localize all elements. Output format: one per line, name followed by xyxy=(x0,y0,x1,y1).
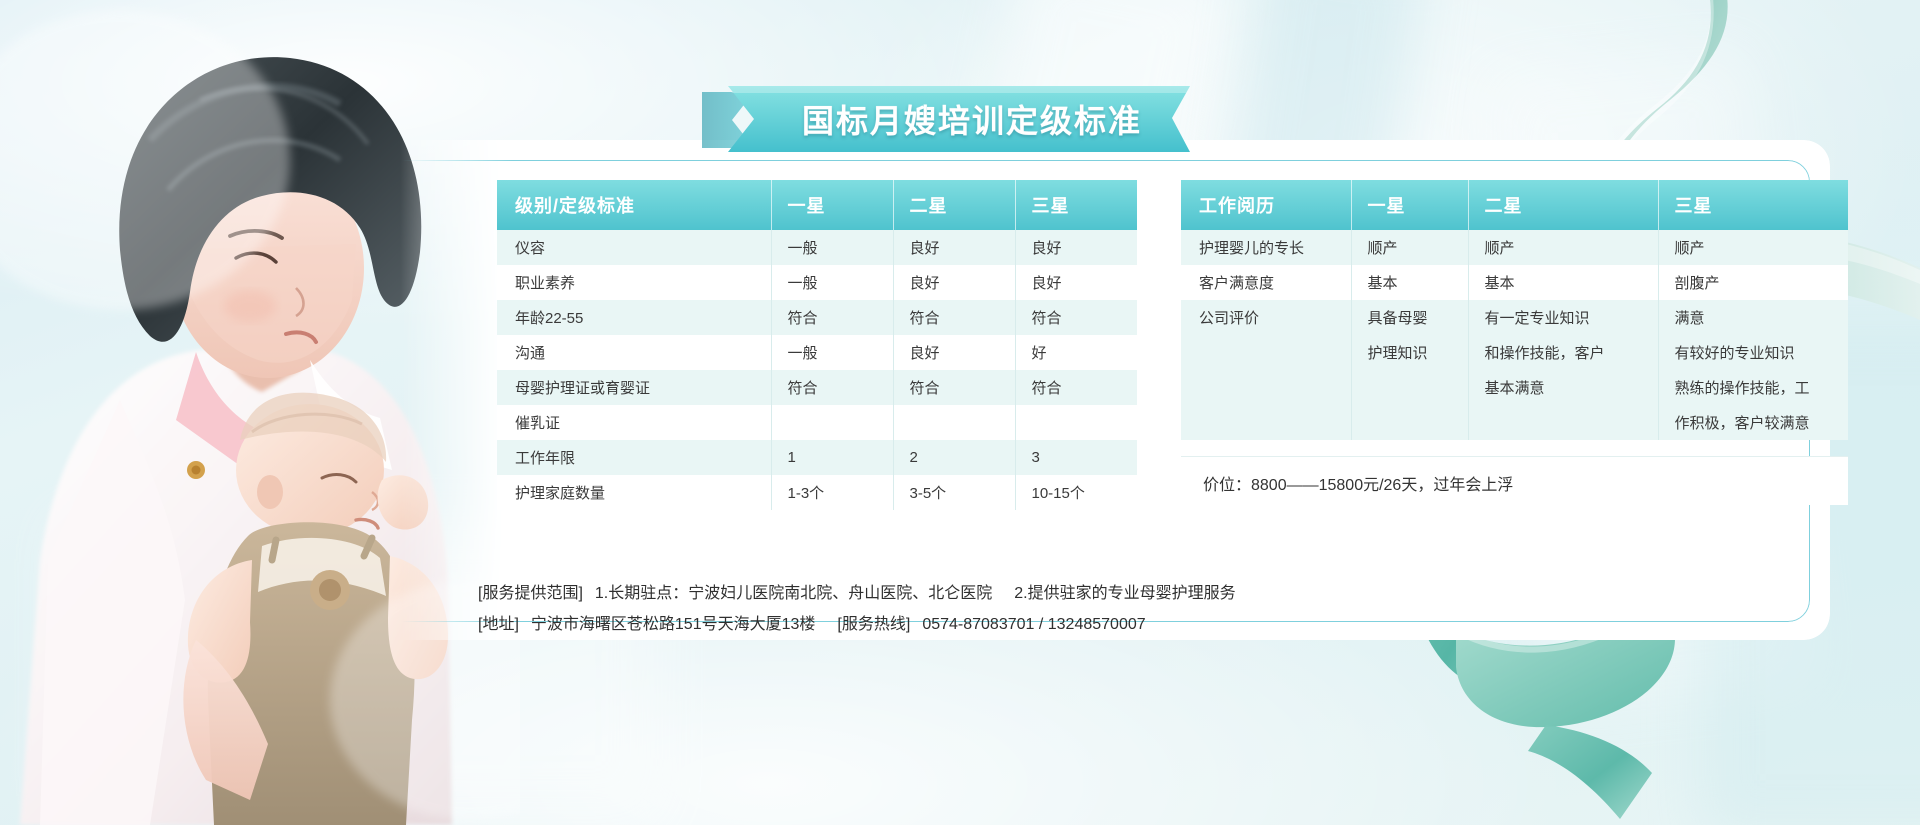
cell-three-star: 作积极，客户较满意 xyxy=(1658,405,1848,440)
table-row: 仪容 一般 良好 良好 xyxy=(497,230,1137,265)
row-label xyxy=(1181,405,1351,440)
row-label: 公司评价 xyxy=(1181,300,1351,335)
cell-two-star: 2 xyxy=(893,440,1015,475)
cell-two-star: 3-5个 xyxy=(893,475,1015,510)
row-label: 催乳证 xyxy=(497,405,771,440)
banner-title: 国标月嫂培训定级标准 xyxy=(702,86,1190,152)
service-scope-text: 1.长期驻点：宁波妇儿医院南北院、舟山医院、北仑医院 xyxy=(595,585,992,602)
column-header-three-star: 三星 xyxy=(1658,180,1848,230)
cell-two-star: 基本 xyxy=(1468,265,1658,300)
cell-one-star: 一般 xyxy=(771,335,893,370)
table-row: 作积极，客户较满意 xyxy=(1181,405,1848,440)
table-row: 职业素养 一般 良好 良好 xyxy=(497,265,1137,300)
column-header-experience: 工作阅历 xyxy=(1181,180,1351,230)
row-label xyxy=(1181,335,1351,370)
address-hotline-line: [地址]宁波市海曙区苍松路151号天海大厦13楼[服务热线]0574-87083… xyxy=(478,609,1678,640)
row-label: 沟通 xyxy=(497,335,771,370)
cell-one-star: 符合 xyxy=(771,300,893,335)
cell-three-star: 顺产 xyxy=(1658,230,1848,265)
cell-three-star xyxy=(1015,405,1137,440)
cell-one-star: 基本 xyxy=(1351,265,1468,300)
price-note: 价位：8800——15800元/26天，过年会上浮 xyxy=(1181,456,1848,505)
service-scope-label: [服务提供范围] xyxy=(478,585,583,602)
cell-three-star: 好 xyxy=(1015,335,1137,370)
row-label xyxy=(1181,370,1351,405)
cell-one-star: 1 xyxy=(771,440,893,475)
table-row: 护理知识 和操作技能，客户 有较好的专业知识 xyxy=(1181,335,1848,370)
work-experience-table: 工作阅历 一星 二星 三星 护理婴儿的专长 顺产 顺产 顺产 客户满意度 xyxy=(1181,180,1848,440)
cell-one-star: 具备母婴 xyxy=(1351,300,1468,335)
column-header-three-star: 三星 xyxy=(1015,180,1137,230)
cell-three-star: 满意 xyxy=(1658,300,1848,335)
column-header-one-star: 一星 xyxy=(771,180,893,230)
grade-standard-table: 级别/定级标准 一星 二星 三星 仪容 一般 良好 良好 职业素养 一般 良好 xyxy=(497,180,1137,510)
row-label: 护理家庭数量 xyxy=(497,475,771,510)
table-row: 护理家庭数量 1-3个 3-5个 10-15个 xyxy=(497,475,1137,510)
column-header-two-star: 二星 xyxy=(893,180,1015,230)
cell-one-star xyxy=(1351,405,1468,440)
address-text: 宁波市海曙区苍松路151号天海大厦13楼 xyxy=(531,616,816,633)
footer-info: [服务提供范围]1.长期驻点：宁波妇儿医院南北院、舟山医院、北仑医院2.提供驻家… xyxy=(478,578,1678,640)
cell-two-star xyxy=(893,405,1015,440)
experience-table-wrapper: 工作阅历 一星 二星 三星 护理婴儿的专长 顺产 顺产 顺产 客户满意度 xyxy=(1181,180,1848,510)
cell-two-star: 和操作技能，客户 xyxy=(1468,335,1658,370)
cell-three-star: 良好 xyxy=(1015,230,1137,265)
row-label: 工作年限 xyxy=(497,440,771,475)
cell-three-star: 有较好的专业知识 xyxy=(1658,335,1848,370)
tables-container: 级别/定级标准 一星 二星 三星 仪容 一般 良好 良好 职业素养 一般 良好 xyxy=(497,180,1797,510)
cell-three-star: 符合 xyxy=(1015,370,1137,405)
address-label: [地址] xyxy=(478,616,519,633)
table-row: 客户满意度 基本 基本 剖腹产 xyxy=(1181,265,1848,300)
cell-one-star: 符合 xyxy=(771,370,893,405)
cell-one-star xyxy=(1351,370,1468,405)
cell-two-star: 良好 xyxy=(893,335,1015,370)
row-label: 母婴护理证或育婴证 xyxy=(497,370,771,405)
column-header-two-star: 二星 xyxy=(1468,180,1658,230)
row-label: 仪容 xyxy=(497,230,771,265)
column-header-one-star: 一星 xyxy=(1351,180,1468,230)
table-row: 母婴护理证或育婴证 符合 符合 符合 xyxy=(497,370,1137,405)
cell-three-star: 10-15个 xyxy=(1015,475,1137,510)
row-label: 职业素养 xyxy=(497,265,771,300)
table-row: 护理婴儿的专长 顺产 顺产 顺产 xyxy=(1181,230,1848,265)
table-row: 沟通 一般 良好 好 xyxy=(497,335,1137,370)
row-label: 客户满意度 xyxy=(1181,265,1351,300)
row-label: 年龄22-55 xyxy=(497,300,771,335)
cell-two-star: 符合 xyxy=(893,370,1015,405)
column-header-criteria: 级别/定级标准 xyxy=(497,180,771,230)
table-row: 催乳证 xyxy=(497,405,1137,440)
row-label: 护理婴儿的专长 xyxy=(1181,230,1351,265)
table-row: 年龄22-55 符合 符合 符合 xyxy=(497,300,1137,335)
table-header-row: 工作阅历 一星 二星 三星 xyxy=(1181,180,1848,230)
cell-three-star: 良好 xyxy=(1015,265,1137,300)
cell-one-star: 顺产 xyxy=(1351,230,1468,265)
cell-two-star: 良好 xyxy=(893,230,1015,265)
cell-three-star: 熟练的操作技能，工 xyxy=(1658,370,1848,405)
table-row: 公司评价 具备母婴 有一定专业知识 满意 xyxy=(1181,300,1848,335)
cell-one-star: 1-3个 xyxy=(771,475,893,510)
cell-two-star: 基本满意 xyxy=(1468,370,1658,405)
cell-one-star xyxy=(771,405,893,440)
cell-two-star: 顺产 xyxy=(1468,230,1658,265)
title-banner: 国标月嫂培训定级标准 xyxy=(702,86,1190,152)
service-scope-text-2: 2.提供驻家的专业母婴护理服务 xyxy=(1014,585,1235,602)
cell-three-star: 符合 xyxy=(1015,300,1137,335)
table-row: 工作年限 1 2 3 xyxy=(497,440,1137,475)
cell-one-star: 一般 xyxy=(771,230,893,265)
cell-three-star: 3 xyxy=(1015,440,1137,475)
poster-stage: 国标月嫂培训定级标准 级别/定级标准 一星 二星 三星 仪容 一般 良好 良好 xyxy=(0,0,1920,825)
cell-three-star: 剖腹产 xyxy=(1658,265,1848,300)
cell-two-star: 良好 xyxy=(893,265,1015,300)
cell-two-star: 符合 xyxy=(893,300,1015,335)
cell-two-star: 有一定专业知识 xyxy=(1468,300,1658,335)
cell-one-star: 一般 xyxy=(771,265,893,300)
cell-two-star xyxy=(1468,405,1658,440)
service-scope-line: [服务提供范围]1.长期驻点：宁波妇儿医院南北院、舟山医院、北仑医院2.提供驻家… xyxy=(478,578,1678,609)
table-header-row: 级别/定级标准 一星 二星 三星 xyxy=(497,180,1137,230)
hotline-label: [服务热线] xyxy=(837,616,910,633)
cell-one-star: 护理知识 xyxy=(1351,335,1468,370)
table-row: 基本满意 熟练的操作技能，工 xyxy=(1181,370,1848,405)
hotline-text: 0574-87083701 / 13248570007 xyxy=(922,616,1145,633)
